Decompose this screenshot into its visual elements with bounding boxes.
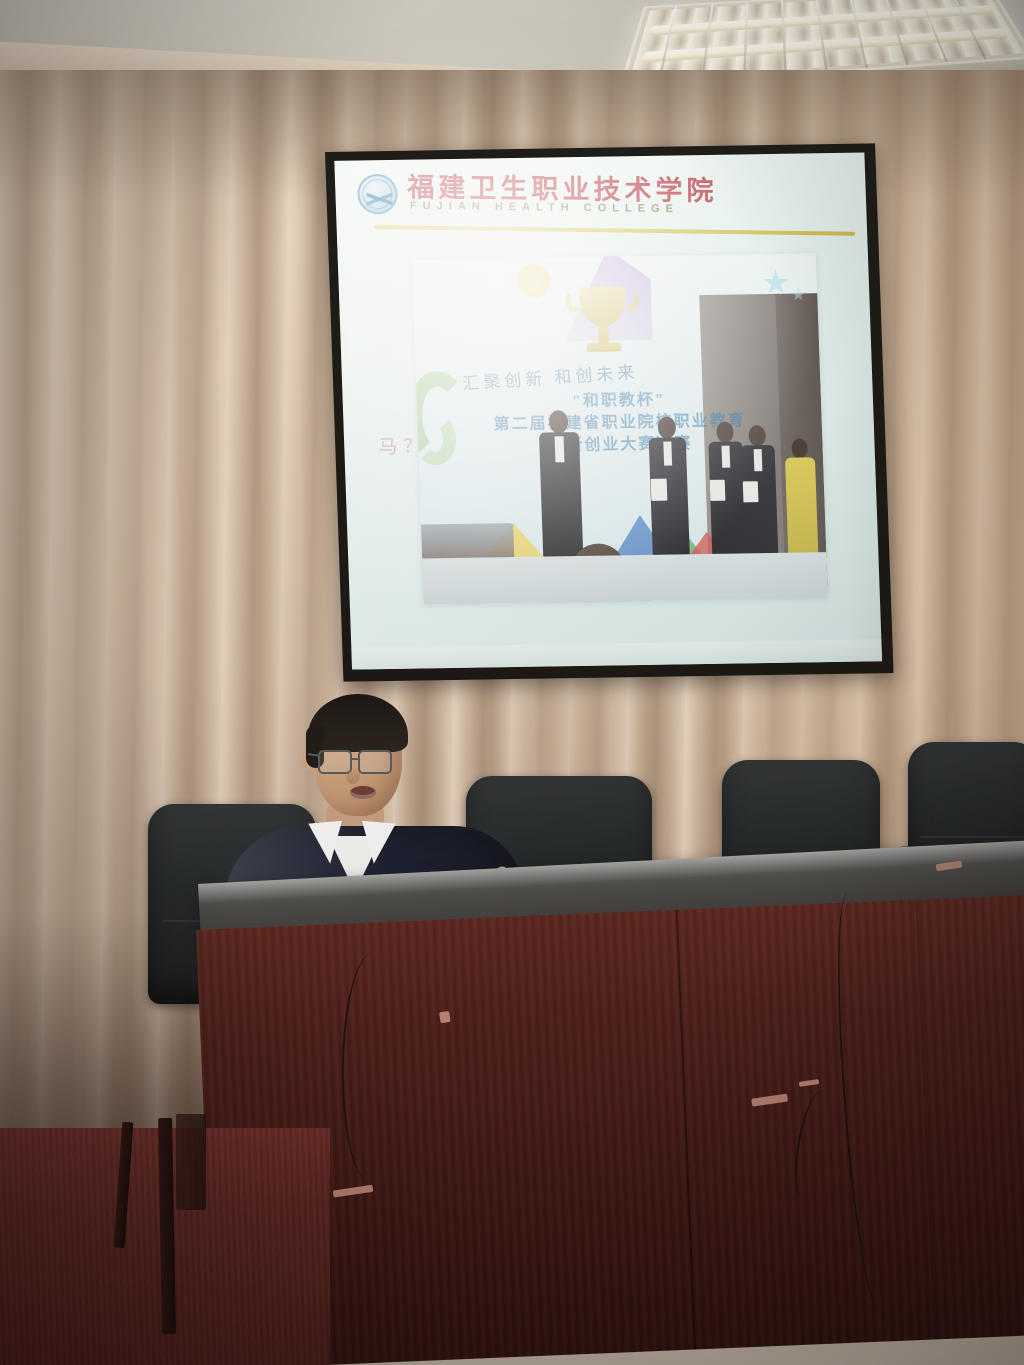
chair-leg: [176, 1114, 206, 1210]
conference-room-photo: 福建卫生职业技术学院 FUJIAN HEALTH COLLEGE 马？？！！: [0, 0, 1024, 1365]
carpet-floor: [0, 1128, 330, 1365]
